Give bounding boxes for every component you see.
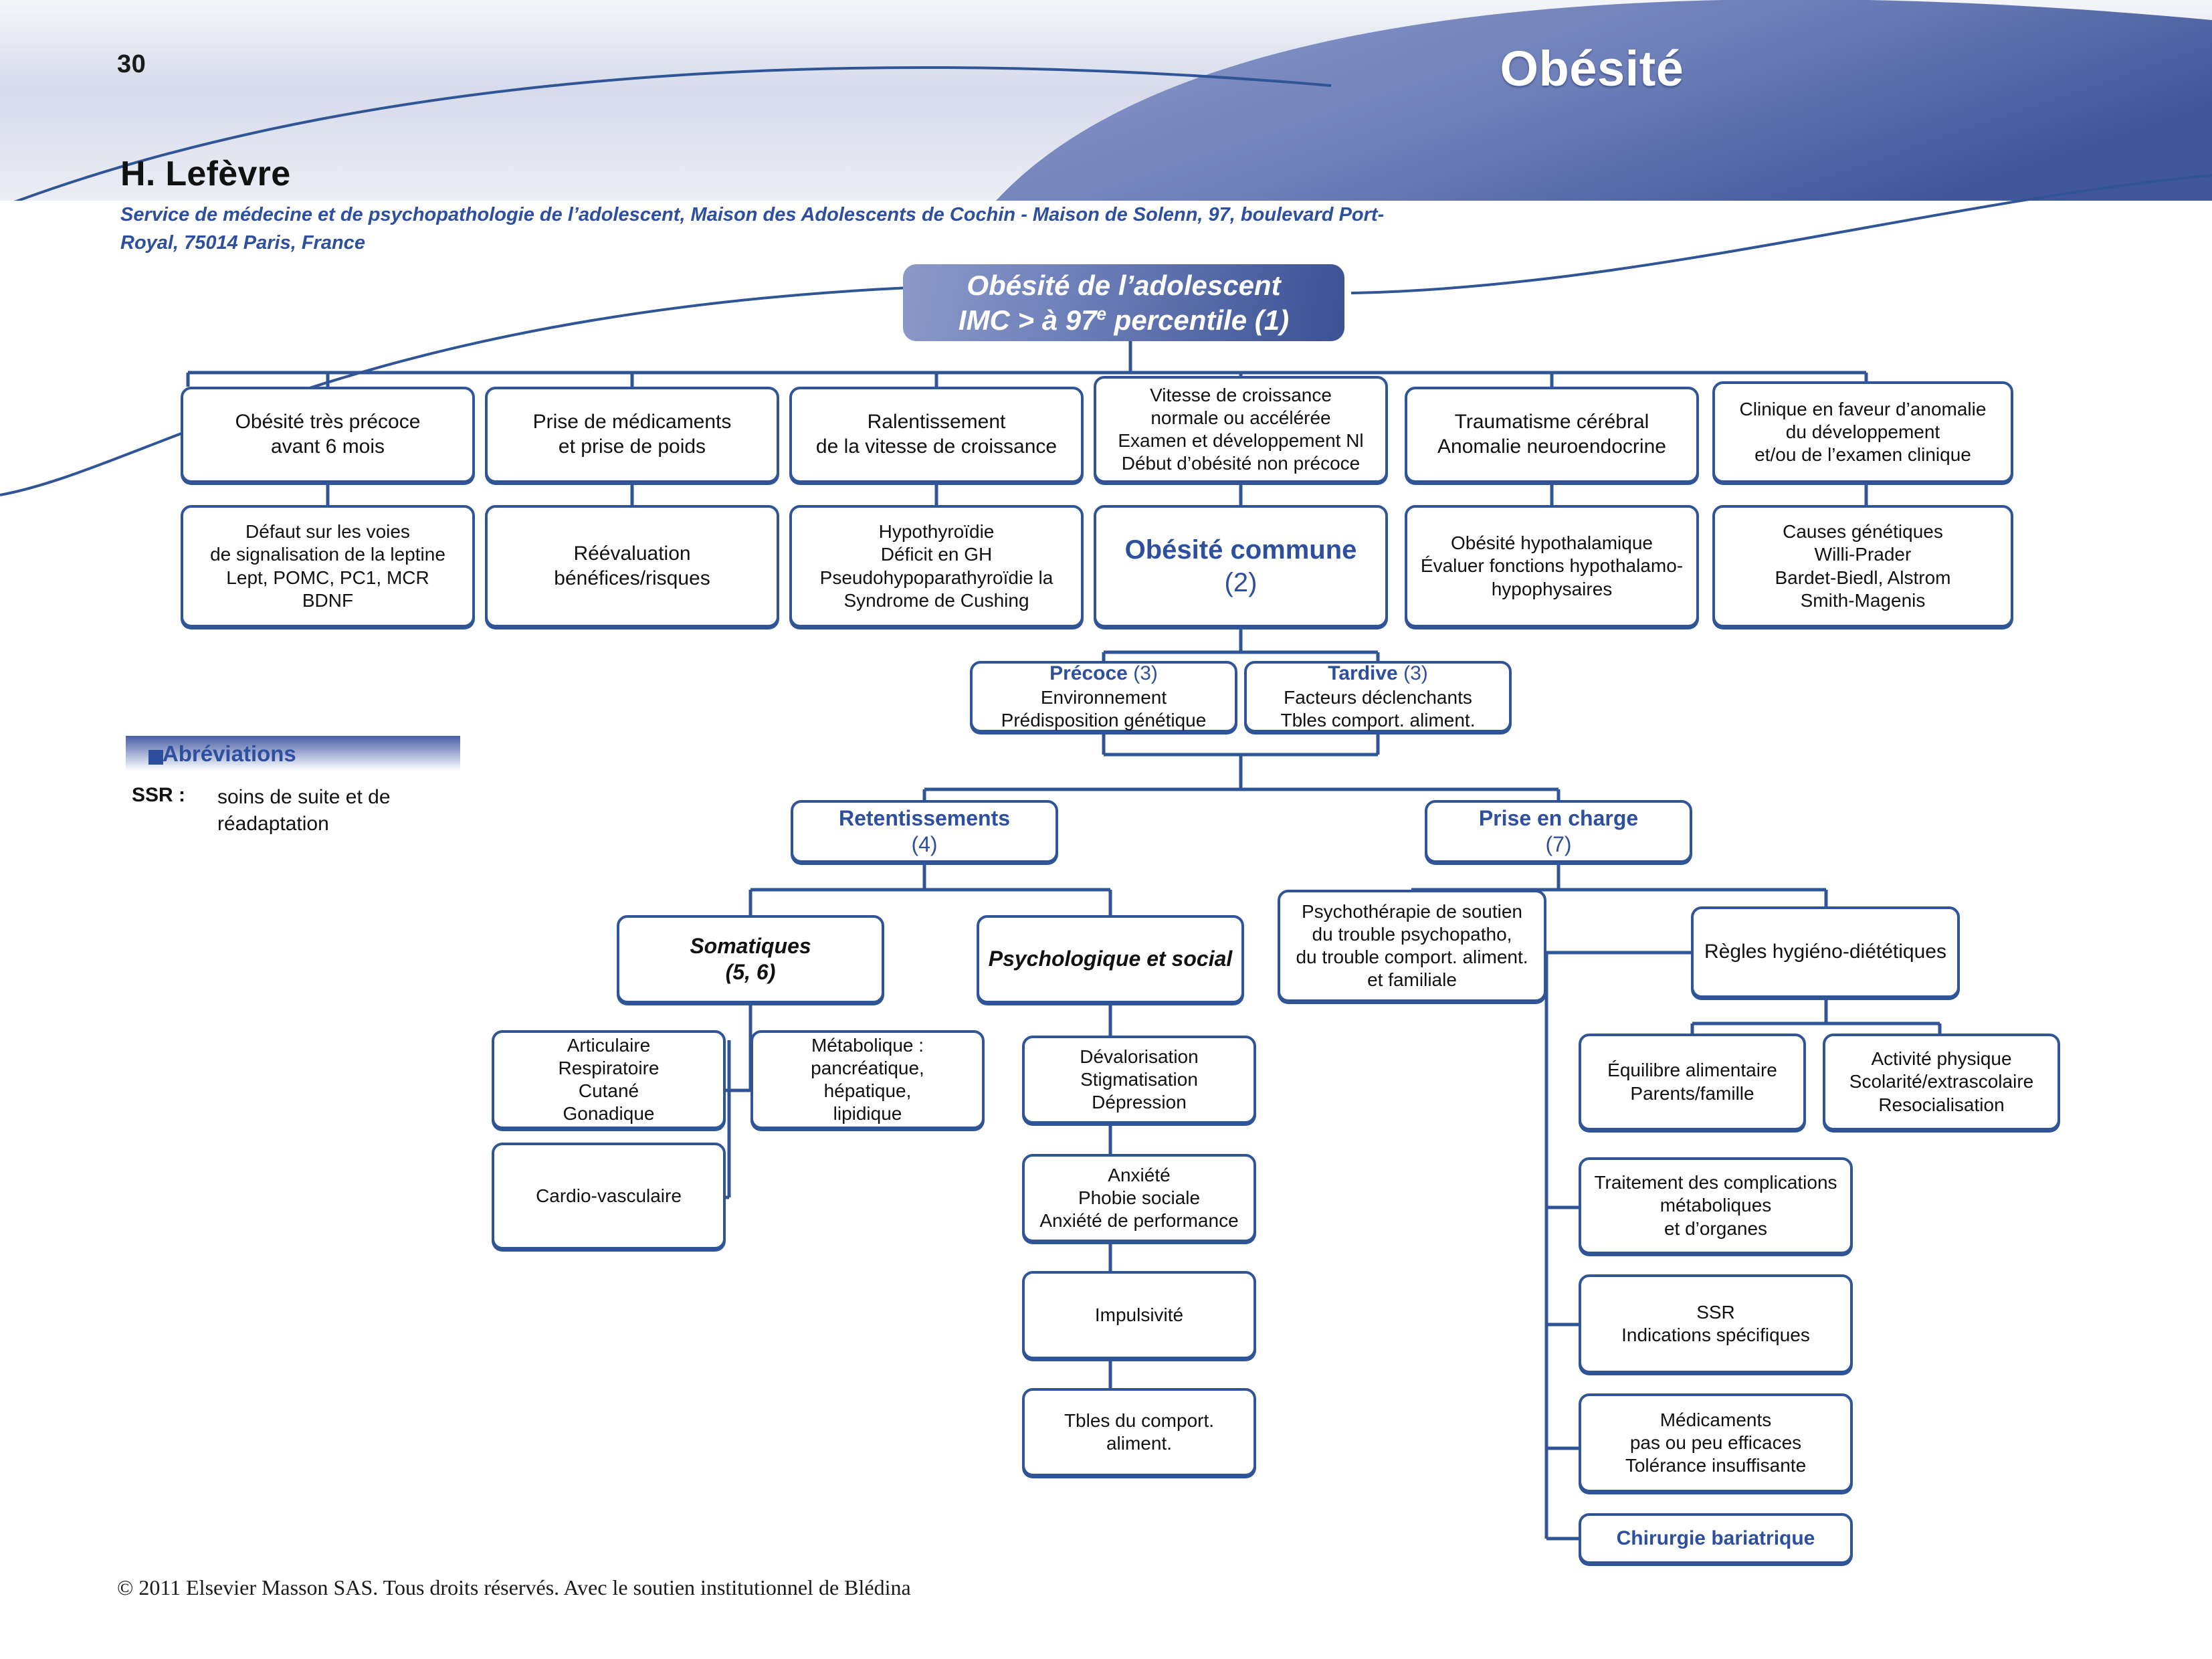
node-line: Stigmatisation	[1031, 1068, 1247, 1091]
node-obesite-commune[interactable]: Obésité commune (2)	[1094, 505, 1388, 627]
node-devalorisation[interactable]: Dévalorisation Stigmatisation Dépression	[1022, 1036, 1256, 1124]
node-subtitle: (4)	[800, 832, 1049, 858]
root-line-1: Obésité de l’adolescent	[910, 268, 1338, 302]
node-line: Bardet-Biedl, Alstrom	[1722, 567, 2004, 589]
node-line: Chirurgie bariatrique	[1588, 1527, 1843, 1551]
node-obesite-tres-precoce[interactable]: Obésité très précoce avant 6 mois	[181, 387, 475, 483]
node-line: aliment.	[1031, 1432, 1247, 1455]
node-line: Pseudohypoparathyroïdie la	[799, 567, 1074, 589]
node-ref: (3)	[1403, 662, 1428, 684]
node-ralentissement-croissance[interactable]: Ralentissement de la vitesse de croissan…	[789, 387, 1084, 483]
node-line: Réévaluation	[494, 542, 770, 567]
node-metabolique[interactable]: Métabolique : pancréatique, hépatique, l…	[750, 1030, 985, 1129]
node-line: Cutané	[501, 1080, 716, 1102]
node-line: Métabolique :	[760, 1034, 975, 1057]
node-line: Scolarité/extrascolaire	[1832, 1070, 2051, 1093]
node-equilibre-alimentaire[interactable]: Équilibre alimentaire Parents/famille	[1579, 1034, 1806, 1131]
node-anxiete[interactable]: Anxiété Phobie sociale Anxiété de perfor…	[1022, 1154, 1256, 1242]
node-line: et/ou de l’examen clinique	[1722, 444, 2004, 466]
node-line: Traitement des complications	[1588, 1171, 1843, 1194]
node-line: Smith-Magenis	[1722, 589, 2004, 612]
node-line: Facteurs déclenchants	[1253, 686, 1502, 709]
node-precoce[interactable]: Précoce (3) Environnement Prédisposition…	[970, 661, 1237, 733]
node-line: Ralentissement	[799, 410, 1074, 435]
node-line: Lept, POMC, PC1, MCR	[190, 567, 466, 589]
node-defaut-voies-leptine[interactable]: Défaut sur les voies de signalisation de…	[181, 505, 475, 627]
node-title: Tardive	[1328, 662, 1398, 684]
root-line2-b: percentile (1)	[1106, 304, 1289, 336]
node-line: Déficit en GH	[799, 543, 1074, 566]
node-title: Obésité commune	[1103, 534, 1379, 567]
node-line: Activité physique	[1832, 1048, 2051, 1070]
node-causes-genetiques[interactable]: Causes génétiques Willi-Prader Bardet-Bi…	[1712, 505, 2013, 627]
node-line: hypophysaires	[1414, 578, 1690, 601]
node-psychotherapie-de-soutien[interactable]: Psychothérapie de soutien du trouble psy…	[1278, 890, 1546, 1002]
node-line: Évaluer fonctions hypothalamo-	[1414, 555, 1690, 577]
node-line: Médicaments	[1588, 1409, 1843, 1432]
node-line: Tolérance insuffisante	[1588, 1454, 1843, 1477]
copyright-footer: © 2011 Elsevier Masson SAS. Tous droits …	[117, 1575, 911, 1600]
node-tbles-comport-aliment[interactable]: Tbles du comport. aliment.	[1022, 1388, 1256, 1476]
node-line: du développement	[1722, 421, 2004, 444]
node-prise-en-charge[interactable]: Prise en charge (7)	[1425, 800, 1692, 863]
node-line: Règles hygiéno-diététiques	[1700, 940, 1950, 965]
node-line: de signalisation de la leptine	[190, 543, 466, 566]
root-line2-a: IMC > à 97	[959, 304, 1097, 336]
node-line: Anxiété	[1031, 1164, 1247, 1187]
node-title: Précoce	[1049, 662, 1128, 684]
node-prise-de-medicaments[interactable]: Prise de médicaments et prise de poids	[485, 387, 779, 483]
node-line: Parents/famille	[1588, 1082, 1797, 1105]
node-subtitle: (2)	[1103, 567, 1379, 599]
node-line: pancréatique,	[760, 1057, 975, 1080]
node-subtitle: (5, 6)	[626, 959, 875, 985]
node-line: Examen et développement Nl	[1103, 429, 1379, 452]
node-line: Défaut sur les voies	[190, 520, 466, 543]
node-line: Psychothérapie de soutien	[1287, 900, 1537, 923]
node-ref: (3)	[1133, 662, 1158, 684]
node-vitesse-croissance-normale[interactable]: Vitesse de croissance normale ou accélér…	[1094, 376, 1388, 483]
node-line: Anxiété de performance	[1031, 1209, 1247, 1232]
node-line: Resocialisation	[1832, 1094, 2051, 1116]
node-title: Retentissements	[800, 805, 1049, 832]
node-regles-hygieno-dietetiques[interactable]: Règles hygiéno-diététiques	[1691, 906, 1960, 998]
node-line: Environnement	[979, 686, 1228, 709]
node-line: lipidique	[760, 1102, 975, 1125]
node-line: Syndrome de Cushing	[799, 589, 1074, 612]
node-title: Psychologique et social	[986, 946, 1235, 972]
node-line: BDNF	[190, 589, 466, 612]
node-somatiques[interactable]: Somatiques (5, 6)	[617, 915, 884, 1003]
node-line: Gonadique	[501, 1102, 716, 1125]
node-root-obesite-adolescent[interactable]: Obésité de l’adolescent IMC > à 97e perc…	[903, 264, 1344, 341]
node-line: Cardio-vasculaire	[501, 1185, 716, 1207]
node-line: et d’organes	[1588, 1217, 1843, 1240]
node-traumatisme-cerebral[interactable]: Traumatisme cérébral Anomalie neuroendoc…	[1405, 387, 1699, 483]
node-title-row: Précoce (3)	[979, 662, 1228, 686]
root-line-2: IMC > à 97e percentile (1)	[910, 303, 1338, 337]
node-line: Obésité très précoce	[190, 410, 466, 435]
node-psychologique-et-social[interactable]: Psychologique et social	[977, 915, 1244, 1003]
node-line: Causes génétiques	[1722, 520, 2004, 543]
node-line: Tbles comport. aliment.	[1253, 709, 1502, 732]
node-articulaire-respiratoire[interactable]: Articulaire Respiratoire Cutané Gonadiqu…	[492, 1030, 726, 1129]
node-line: Anomalie neuroendocrine	[1414, 435, 1690, 460]
node-obesite-hypothalamique[interactable]: Obésité hypothalamique Évaluer fonctions…	[1405, 505, 1699, 627]
node-ssr-indications[interactable]: SSR Indications spécifiques	[1579, 1274, 1853, 1373]
node-line: du trouble comport. aliment.	[1287, 946, 1537, 969]
node-line: Équilibre alimentaire	[1588, 1059, 1797, 1082]
node-chirurgie-bariatrique[interactable]: Chirurgie bariatrique	[1579, 1513, 1853, 1564]
node-line: Dépression	[1031, 1091, 1247, 1114]
node-reevaluation-benefices-risques[interactable]: Réévaluation bénéfices/risques	[485, 505, 779, 627]
node-line: métaboliques	[1588, 1194, 1843, 1217]
node-clinique-anomalie-developpement[interactable]: Clinique en faveur d’anomalie du dévelop…	[1712, 381, 2013, 483]
node-line: Prédisposition génétique	[979, 709, 1228, 732]
node-line: Indications spécifiques	[1588, 1324, 1843, 1347]
node-line: et prise de poids	[494, 435, 770, 460]
node-line: Articulaire	[501, 1034, 716, 1057]
node-line: Début d’obésité non précoce	[1103, 452, 1379, 475]
node-title: Prise en charge	[1434, 805, 1683, 832]
node-line: Hypothyroïdie	[799, 520, 1074, 543]
node-tardive[interactable]: Tardive (3) Facteurs déclenchants Tbles …	[1244, 661, 1512, 733]
node-title: Somatiques	[626, 933, 875, 959]
node-line: Obésité hypothalamique	[1414, 532, 1690, 555]
node-retentissements[interactable]: Retentissements (4)	[791, 800, 1058, 863]
node-line: Vitesse de croissance	[1103, 384, 1379, 407]
node-line: Phobie sociale	[1031, 1187, 1247, 1209]
flowchart: Obésité de l’adolescent IMC > à 97e perc…	[0, 0, 2212, 1659]
node-line: pas ou peu efficaces	[1588, 1432, 1843, 1454]
node-line: avant 6 mois	[190, 435, 466, 460]
node-line: normale ou accélérée	[1103, 407, 1379, 429]
node-line: et familiale	[1287, 969, 1537, 991]
node-line: Clinique en faveur d’anomalie	[1722, 398, 2004, 421]
node-line: Willi-Prader	[1722, 543, 2004, 566]
node-line: hépatique,	[760, 1080, 975, 1102]
node-line: Dévalorisation	[1031, 1046, 1247, 1068]
node-line: Traumatisme cérébral	[1414, 410, 1690, 435]
node-line: Respiratoire	[501, 1057, 716, 1080]
node-activite-physique[interactable]: Activité physique Scolarité/extrascolair…	[1823, 1034, 2060, 1131]
node-line: Prise de médicaments	[494, 410, 770, 435]
node-line: Tbles du comport.	[1031, 1409, 1247, 1432]
node-subtitle: (7)	[1434, 832, 1683, 858]
node-title-row: Tardive (3)	[1253, 662, 1502, 686]
node-line: de la vitesse de croissance	[799, 435, 1074, 460]
node-impulsivite[interactable]: Impulsivité	[1022, 1271, 1256, 1359]
root-line2-sup: e	[1097, 304, 1106, 324]
node-line: SSR	[1588, 1301, 1843, 1324]
node-line: du trouble psychopatho,	[1287, 923, 1537, 946]
node-line: Impulsivité	[1031, 1304, 1247, 1327]
node-medicaments[interactable]: Médicaments pas ou peu efficaces Toléran…	[1579, 1393, 1853, 1492]
node-traitement-complications[interactable]: Traitement des complications métabolique…	[1579, 1157, 1853, 1254]
node-cardio-vasculaire[interactable]: Cardio-vasculaire	[492, 1143, 726, 1250]
node-line: bénéfices/risques	[494, 567, 770, 591]
node-hypothyroidie[interactable]: Hypothyroïdie Déficit en GH Pseudohypopa…	[789, 505, 1084, 627]
